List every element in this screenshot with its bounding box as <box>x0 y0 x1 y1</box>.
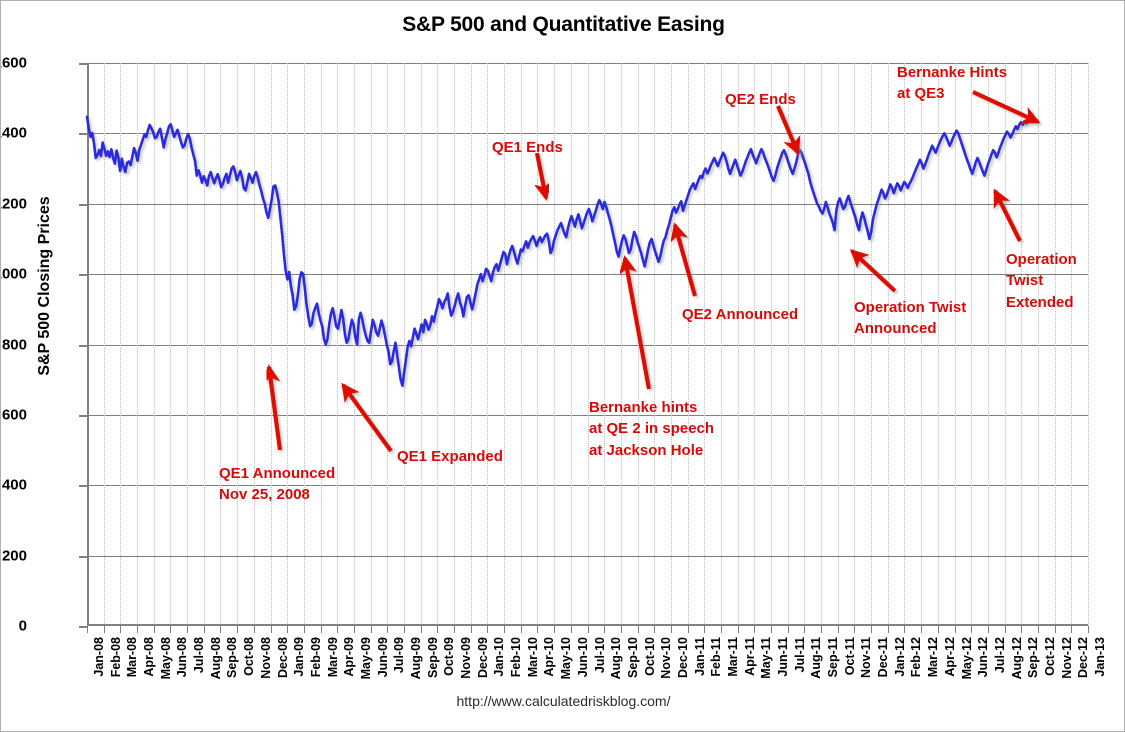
x-axis-tick-label: Mar-09 <box>326 637 340 677</box>
y-axis-title: S&P 500 Closing Prices <box>36 76 54 496</box>
x-axis-tick-label: Jul-08 <box>192 637 206 673</box>
gridline-vertical <box>1021 63 1022 626</box>
x-axis-tick-label: Apr-08 <box>142 637 156 677</box>
gridline-vertical <box>904 63 905 626</box>
x-axis-tick-label: Oct-08 <box>242 637 256 676</box>
gridline-vertical <box>271 63 272 626</box>
x-axis-tick-label: Aug-08 <box>209 637 223 679</box>
x-axis-tick-mark <box>187 626 188 633</box>
y-axis-tick-label: 800 <box>0 336 27 353</box>
x-axis-tick-mark <box>1005 626 1006 633</box>
x-axis-tick-mark <box>854 626 855 633</box>
x-axis-tick-label: Sep-11 <box>826 637 840 677</box>
gridline-vertical <box>788 63 789 626</box>
gridline-vertical <box>120 63 121 626</box>
x-axis-tick-label: Aug-09 <box>409 637 423 679</box>
y-axis-tick-mark <box>79 133 87 135</box>
x-axis-tick-label: Feb-12 <box>909 637 923 677</box>
x-axis-tick-mark <box>604 626 605 633</box>
x-axis-tick-label: Feb-11 <box>709 637 723 677</box>
x-axis-tick-label: Jan-10 <box>492 637 506 677</box>
x-axis-tick-label: Sep-08 <box>225 637 239 678</box>
x-axis-tick-mark <box>821 626 822 633</box>
x-axis-tick-mark <box>104 626 105 633</box>
gridline-vertical <box>704 63 705 626</box>
x-axis-tick-label: Dec-12 <box>1076 637 1090 678</box>
x-axis-tick-label: Mar-08 <box>125 637 139 677</box>
x-axis-tick-mark <box>921 626 922 633</box>
gridline-vertical <box>854 63 855 626</box>
x-axis-tick-label: Apr-09 <box>342 637 356 677</box>
gridline-vertical <box>387 63 388 626</box>
x-axis-tick-label: Aug-12 <box>1010 637 1024 679</box>
gridline-vertical <box>187 63 188 626</box>
gridline-vertical <box>688 63 689 626</box>
x-axis-tick-mark <box>671 626 672 633</box>
x-axis-tick-mark <box>504 626 505 633</box>
x-axis-tick-mark <box>204 626 205 633</box>
gridline-vertical <box>170 63 171 626</box>
gridline-vertical <box>471 63 472 626</box>
x-axis-tick-mark <box>1021 626 1022 633</box>
x-axis-tick-label: Nov-10 <box>659 637 673 679</box>
x-axis-tick-mark <box>137 626 138 633</box>
gridline-vertical <box>888 63 889 626</box>
x-axis-tick-label: Jun-08 <box>175 637 189 677</box>
gridline-vertical <box>988 63 989 626</box>
x-axis-tick-label: Feb-09 <box>309 637 323 677</box>
annotation-bernanke-hints-qe3: Bernanke Hints at QE3 <box>897 62 1007 105</box>
gridline-vertical <box>354 63 355 626</box>
x-axis-tick-label: Aug-11 <box>809 637 823 679</box>
gridline-vertical <box>304 63 305 626</box>
gridline-vertical <box>337 63 338 626</box>
x-axis-tick-mark <box>304 626 305 633</box>
x-axis-tick-label: Jul-11 <box>793 637 807 672</box>
x-axis-tick-mark <box>254 626 255 633</box>
gridline-vertical <box>804 63 805 626</box>
chart-title: S&P 500 and Quantitative Easing <box>1 13 1125 37</box>
x-axis-tick-mark <box>688 626 689 633</box>
y-axis-tick-mark <box>79 274 87 276</box>
y-axis-tick-label: 600 <box>0 406 27 423</box>
x-axis-tick-label: Sep-09 <box>426 637 440 678</box>
gridline-vertical <box>254 63 255 626</box>
chart-container: S&P 500 and Quantitative Easing S&P 500 … <box>0 0 1125 732</box>
y-axis-tick-mark <box>79 204 87 206</box>
x-axis-tick-label: Jan-13 <box>1093 637 1107 677</box>
x-axis-tick-mark <box>354 626 355 633</box>
x-axis-tick-label: Jun-11 <box>776 637 790 677</box>
x-axis-tick-mark <box>971 626 972 633</box>
x-axis-tick-label: Jan-12 <box>893 637 907 677</box>
x-axis-tick-mark <box>888 626 889 633</box>
x-axis-tick-label: May-09 <box>359 637 373 679</box>
x-axis-tick-label: Jul-12 <box>993 637 1007 673</box>
x-axis-tick-label: Dec-09 <box>476 637 490 678</box>
x-axis-tick-label: Dec-10 <box>676 637 690 678</box>
x-axis-tick-label: Oct-10 <box>643 637 657 676</box>
gridline-vertical <box>1005 63 1006 626</box>
y-axis-tick-mark <box>79 345 87 347</box>
x-axis-tick-label: May-12 <box>960 637 974 679</box>
y-axis-tick-mark <box>79 556 87 558</box>
x-axis-tick-label: Sep-10 <box>626 637 640 678</box>
gridline-vertical <box>654 63 655 626</box>
x-axis-tick-mark <box>487 626 488 633</box>
y-axis-tick-label: 1400 <box>0 125 27 142</box>
gridline-vertical <box>588 63 589 626</box>
x-axis-tick-label: Sep-12 <box>1026 637 1040 678</box>
x-axis-tick-mark <box>471 626 472 633</box>
gridline-vertical <box>287 63 288 626</box>
x-axis-tick-mark <box>1038 626 1039 633</box>
x-axis-tick-mark <box>871 626 872 633</box>
x-axis-tick-label: Mar-12 <box>926 637 940 677</box>
y-axis-tick-mark <box>79 63 87 65</box>
annotation-qe1-expanded: QE1 Expanded <box>397 446 503 467</box>
x-axis-tick-label: Apr-11 <box>743 637 757 676</box>
x-axis-tick-mark <box>437 626 438 633</box>
x-axis-tick-mark <box>170 626 171 633</box>
x-axis-tick-label: May-10 <box>559 637 573 679</box>
x-axis-tick-mark <box>554 626 555 633</box>
x-axis-tick-mark <box>271 626 272 633</box>
x-axis-tick-mark <box>1071 626 1072 633</box>
x-axis-tick-label: Jun-09 <box>376 637 390 677</box>
x-axis-tick-mark <box>738 626 739 633</box>
gridline-vertical <box>738 63 739 626</box>
x-axis-tick-mark <box>754 626 755 633</box>
x-axis-tick-label: Feb-08 <box>109 637 123 677</box>
gridline-vertical <box>1088 63 1089 626</box>
gridline-vertical <box>104 63 105 626</box>
y-axis-tick-label: 1600 <box>0 55 27 72</box>
x-axis-tick-label: Jan-09 <box>292 637 306 677</box>
x-axis-tick-label: Oct-09 <box>442 637 456 676</box>
x-axis-tick-mark <box>1055 626 1056 633</box>
x-axis-tick-mark <box>537 626 538 633</box>
x-axis-tick-mark <box>404 626 405 633</box>
x-axis-tick-mark <box>804 626 805 633</box>
annotation-qe1-ends: QE1 Ends <box>492 137 563 158</box>
x-axis-tick-label: May-08 <box>159 637 173 679</box>
gridline-vertical <box>237 63 238 626</box>
x-axis-tick-mark <box>421 626 422 633</box>
gridline-vertical <box>838 63 839 626</box>
gridline-vertical <box>871 63 872 626</box>
plot-area <box>87 63 1088 626</box>
gridline-vertical <box>487 63 488 626</box>
x-axis-tick-mark <box>337 626 338 633</box>
x-axis-tick-mark <box>721 626 722 633</box>
x-axis-tick-label: Nov-12 <box>1060 637 1074 679</box>
x-axis-tick-label: Jan-08 <box>92 637 106 677</box>
gridline-vertical <box>604 63 605 626</box>
x-axis-tick-label: Jul-09 <box>392 637 406 673</box>
x-axis-tick-mark <box>1088 626 1089 633</box>
gridline-vertical <box>955 63 956 626</box>
source-url: http://www.calculatedriskblog.com/ <box>1 693 1125 709</box>
x-axis-tick-label: Jun-10 <box>576 637 590 677</box>
gridline-vertical <box>571 63 572 626</box>
x-axis-tick-mark <box>454 626 455 633</box>
gridline-vertical <box>1071 63 1072 626</box>
x-axis-tick-label: Mar-11 <box>726 637 740 677</box>
gridline-vertical <box>454 63 455 626</box>
x-axis-tick-mark <box>120 626 121 633</box>
x-axis-tick-label: Jun-12 <box>976 637 990 677</box>
gridline-vertical <box>371 63 372 626</box>
gridline-vertical <box>154 63 155 626</box>
y-axis-tick-label: 200 <box>0 547 27 564</box>
gridline-vertical <box>621 63 622 626</box>
x-axis-tick-mark <box>220 626 221 633</box>
x-axis-tick-label: Mar-10 <box>526 637 540 677</box>
x-axis-tick-mark <box>521 626 522 633</box>
gridline-vertical <box>771 63 772 626</box>
y-axis-tick-label: 1200 <box>0 195 27 212</box>
annotation-qe1-announced: QE1 Announced Nov 25, 2008 <box>219 463 335 506</box>
x-axis-tick-label: Oct-12 <box>1043 637 1057 676</box>
y-axis-tick-mark <box>79 415 87 417</box>
gridline-vertical <box>638 63 639 626</box>
x-axis-tick-label: Feb-10 <box>509 637 523 677</box>
x-axis-tick-mark <box>387 626 388 633</box>
x-axis-tick-mark <box>771 626 772 633</box>
y-axis-tick-mark <box>79 626 87 628</box>
gridline-vertical <box>754 63 755 626</box>
x-axis-tick-mark <box>838 626 839 633</box>
x-axis-tick-label: Dec-08 <box>276 637 290 678</box>
gridline-vertical <box>321 63 322 626</box>
annotation-qe2-ends: QE2 Ends <box>725 89 796 110</box>
x-axis-tick-label: Nov-08 <box>259 637 273 679</box>
annotation-bernanke-hints-qe2: Bernanke hints at QE 2 in speech at Jack… <box>589 397 714 461</box>
gridline-vertical <box>1038 63 1039 626</box>
x-axis-tick-label: Aug-10 <box>609 637 623 679</box>
x-axis-tick-mark <box>237 626 238 633</box>
gridline-vertical <box>971 63 972 626</box>
x-axis-tick-mark <box>938 626 939 633</box>
gridline-vertical <box>1055 63 1056 626</box>
gridline-vertical <box>437 63 438 626</box>
gridline-vertical <box>204 63 205 626</box>
annotation-operation-twist-extended: Operation Twist Extended <box>1006 249 1077 313</box>
x-axis-tick-label: Nov-11 <box>859 637 873 678</box>
x-axis-tick-mark <box>287 626 288 633</box>
annotation-qe2-announced: QE2 Announced <box>682 304 798 325</box>
x-axis-tick-mark <box>904 626 905 633</box>
gridline-vertical <box>921 63 922 626</box>
x-axis-tick-mark <box>988 626 989 633</box>
x-axis-tick-label: Apr-12 <box>943 637 957 677</box>
x-axis-tick-mark <box>788 626 789 633</box>
gridline-vertical <box>421 63 422 626</box>
x-axis-tick-label: May-11 <box>759 637 773 679</box>
gridline-vertical <box>137 63 138 626</box>
x-axis-tick-mark <box>588 626 589 633</box>
x-axis-tick-label: Oct-11 <box>843 637 857 675</box>
x-axis-tick-mark <box>638 626 639 633</box>
y-axis-tick-label: 1000 <box>0 266 27 283</box>
gridline-vertical <box>821 63 822 626</box>
x-axis-tick-mark <box>704 626 705 633</box>
x-axis-tick-mark <box>621 626 622 633</box>
y-axis-tick-label: 0 <box>0 618 27 635</box>
x-axis-tick-label: Apr-10 <box>542 637 556 677</box>
x-axis-tick-mark <box>321 626 322 633</box>
gridline-vertical <box>220 63 221 626</box>
x-axis-tick-mark <box>571 626 572 633</box>
gridline-vertical <box>938 63 939 626</box>
x-axis-tick-mark <box>955 626 956 633</box>
x-axis-tick-mark <box>654 626 655 633</box>
x-axis-tick-mark <box>87 626 88 633</box>
annotation-operation-twist-announced: Operation Twist Announced <box>854 297 966 340</box>
x-axis-tick-label: Jan-11 <box>693 637 707 676</box>
x-axis-tick-label: Nov-09 <box>459 637 473 679</box>
x-axis-tick-label: Jul-10 <box>593 637 607 673</box>
gridline-vertical <box>671 63 672 626</box>
x-axis-tick-mark <box>154 626 155 633</box>
y-axis-tick-label: 400 <box>0 477 27 494</box>
x-axis-tick-mark <box>371 626 372 633</box>
gridline-vertical <box>721 63 722 626</box>
x-axis-tick-label: Dec-11 <box>876 637 890 677</box>
gridline-vertical <box>404 63 405 626</box>
y-axis-tick-mark <box>79 485 87 487</box>
